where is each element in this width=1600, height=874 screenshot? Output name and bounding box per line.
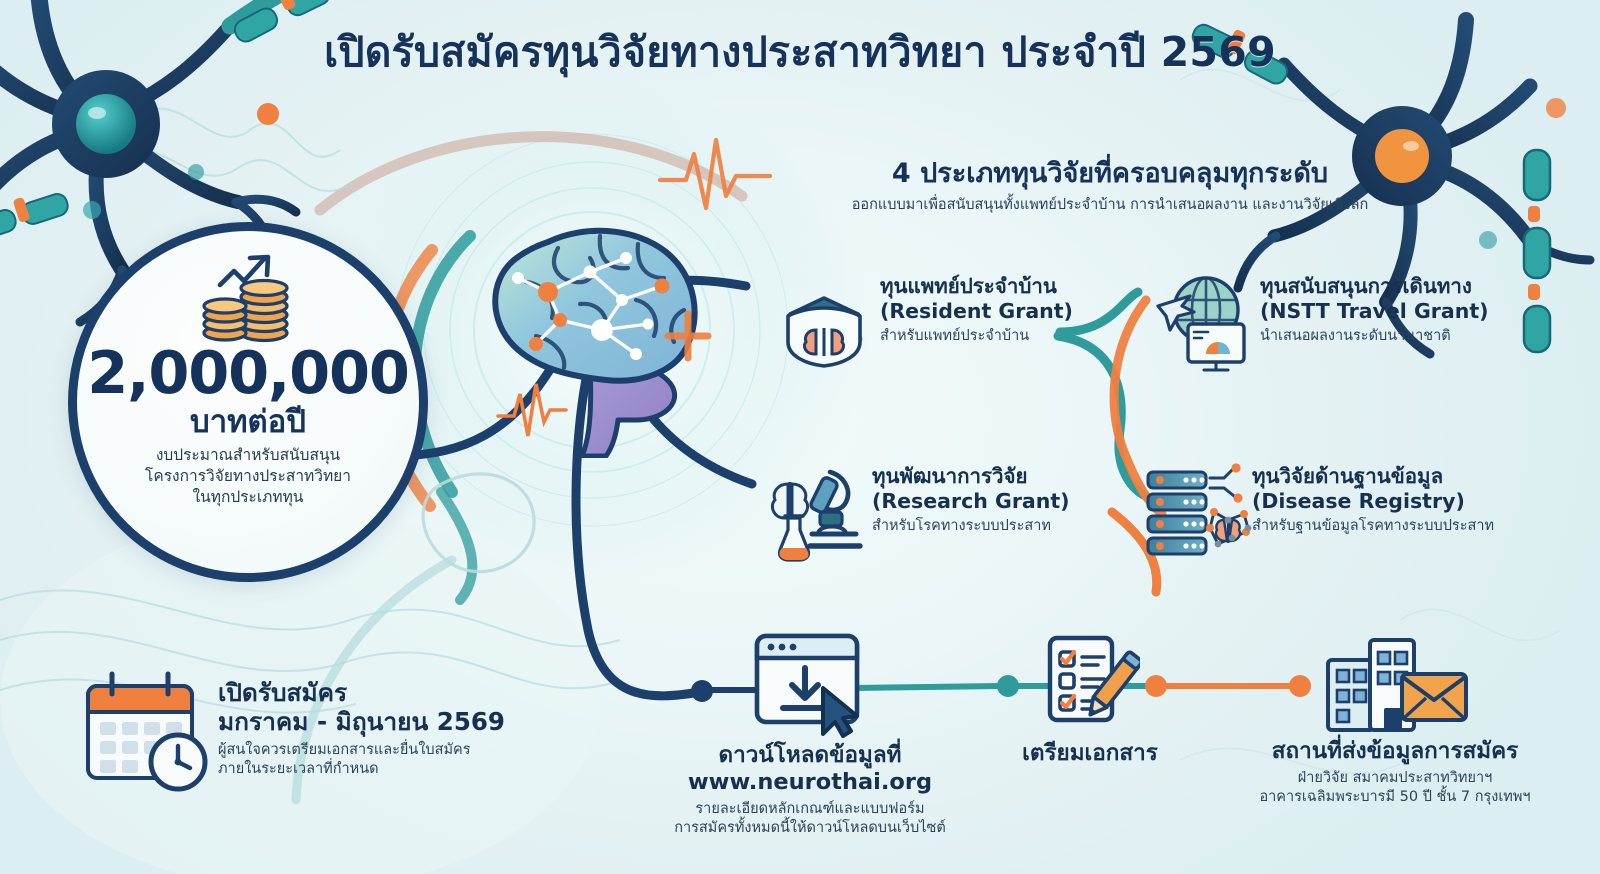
calendar-title-line-2: มกราคม - มิถุนายน 2569: [218, 707, 505, 737]
grant-text-research: ทุนพัฒนาการวิจัย (Research Grant) สำหรับ…: [872, 452, 1070, 535]
calendar-text: เปิดรับสมัคร มกราคม - มิถุนายน 2569 ผู้ส…: [218, 668, 505, 779]
budget-desc-line-1: งบประมาณสำหรับสนับสนุน: [145, 445, 351, 466]
dot-accent: [257, 103, 279, 125]
grants-heading: 4 ประเภททุนวิจัยที่ครอบคลุมทุกระดับ: [760, 158, 1460, 190]
download-sub-line-2: การสมัครทั้งหมดนี้ให้ดาวน์โหลดบนเว็บไซต์: [562, 819, 1058, 838]
download-url[interactable]: www.neurothai.org: [562, 769, 1058, 796]
grant-title-en: (Resident Grant): [880, 299, 1073, 324]
globe-airplane-presentation-icon: [1148, 262, 1260, 374]
calendar-title-line-1: เปิดรับสมัคร: [218, 678, 505, 707]
place-sub-line-1: ฝ่ายวิจัย สมาคมประสาทวิทยาฯ: [1200, 769, 1590, 788]
calendar-clock-icon: [78, 668, 218, 796]
grant-title-en: (Research Grant): [872, 489, 1070, 514]
grant-card-research[interactable]: ทุนพัฒนาการวิจัย (Research Grant) สำหรับ…: [760, 452, 1070, 564]
timeline-calendar-block: เปิดรับสมัคร มกราคม - มิถุนายน 2569 ผู้ส…: [78, 668, 505, 796]
grant-title-en: (Disease Registry): [1252, 489, 1494, 514]
grants-subheading: ออกแบบมาเพื่อสนับสนุนทั้งแพทย์ประจำบ้าน …: [760, 196, 1460, 215]
budget-desc-line-2: โครงการวิจัยทางประสาทวิทยา: [145, 466, 351, 487]
budget-circle: 2,000,000 บาทต่อปี งบประมาณสำหรับสนับสนุ…: [68, 222, 428, 582]
timeline-documents-block: เตรียมเอกสาร: [960, 630, 1220, 767]
timeline-place-block: สถานที่ส่งข้อมูลการสมัคร ฝ่ายวิจัย สมาคม…: [1200, 630, 1590, 807]
grant-title-th: ทุนสนับสนุนการเดินทาง: [1260, 274, 1489, 299]
calendar-sub-line-2: ภายในระยะเวลาที่กำหนด: [218, 760, 505, 779]
coins-growth-icon: [192, 251, 304, 343]
database-server-network-brain-icon: [1140, 452, 1252, 564]
budget-desc-line-3: ในทุกประเภททุน: [145, 487, 351, 508]
grant-title-th: ทุนวิจัยด้านฐานข้อมูล: [1252, 464, 1494, 489]
browser-download-cursor-icon: [751, 630, 869, 738]
brain-network-icon: [440, 208, 740, 458]
grant-text-registry: ทุนวิจัยด้านฐานข้อมูล (Disease Registry)…: [1252, 452, 1494, 535]
grant-title-en: (NSTT Travel Grant): [1260, 299, 1489, 324]
grant-subtitle: สำหรับโรคทางระบบประสาท: [872, 517, 1070, 535]
download-sub-line-1: รายละเอียดหลักเกณฑ์และแบบฟอร์ม: [562, 800, 1058, 819]
grant-subtitle: สำหรับแพทย์ประจำบ้าน: [880, 327, 1073, 345]
microscope-brain-flask-icon: [760, 452, 872, 564]
grant-title-th: ทุนแพทย์ประจำบ้าน: [880, 274, 1073, 299]
grant-subtitle: นำเสนอผลงานระดับนานาชาติ: [1260, 327, 1489, 345]
download-sub: รายละเอียดหลักเกณฑ์และแบบฟอร์ม การสมัครท…: [562, 800, 1058, 838]
place-title: สถานที่ส่งข้อมูลการสมัคร: [1200, 738, 1590, 765]
grant-card-registry[interactable]: ทุนวิจัยด้านฐานข้อมูล (Disease Registry)…: [1140, 452, 1494, 564]
grant-text-travel: ทุนสนับสนุนการเดินทาง (NSTT Travel Grant…: [1260, 262, 1489, 345]
grant-text-resident: ทุนแพทย์ประจำบ้าน (Resident Grant) สำหรั…: [880, 262, 1073, 345]
calendar-sub: ผู้สนใจควรเตรียมเอกสารและยื่นใบสมัคร ภาย…: [218, 741, 505, 779]
building-envelope-icon: [1320, 630, 1470, 734]
grant-card-resident[interactable]: ทุนแพทย์ประจำบ้าน (Resident Grant) สำหรั…: [768, 262, 1073, 374]
axon-myelin-chain: [1524, 150, 1550, 352]
budget-description: งบประมาณสำหรับสนับสนุน โครงการวิจัยทางปร…: [145, 445, 351, 508]
documents-title: เตรียมเอกสาร: [960, 740, 1220, 767]
grant-title-th: ทุนพัฒนาการวิจัย: [872, 464, 1070, 489]
place-sub: ฝ่ายวิจัย สมาคมประสาทวิทยาฯ อาคารเฉลิมพร…: [1200, 769, 1590, 807]
checklist-pencil-icon: [1040, 630, 1140, 734]
ekg-pulse-icon: [660, 140, 770, 208]
grant-card-travel[interactable]: ทุนสนับสนุนการเดินทาง (NSTT Travel Grant…: [1148, 262, 1489, 374]
budget-unit: บาทต่อปี: [190, 405, 306, 439]
place-sub-line-2: อาคารเฉลิมพระบารมี 50 ปี ชั้น 7 กรุงเทพฯ: [1200, 788, 1590, 807]
calendar-sub-line-1: ผู้สนใจควรเตรียมเอกสารและยื่นใบสมัคร: [218, 741, 505, 760]
page-title: เปิดรับสมัครทุนวิจัยทางประสาทวิทยา ประจำ…: [0, 28, 1600, 76]
infographic-canvas: เปิดรับสมัครทุนวิจัยทางประสาทวิทยา ประจำ…: [0, 0, 1600, 874]
grants-heading-block: 4 ประเภททุนวิจัยที่ครอบคลุมทุกระดับ ออกแ…: [760, 158, 1460, 215]
grant-subtitle: สำหรับฐานข้อมูลโรคทางระบบประสาท: [1252, 517, 1494, 535]
graduation-cap-shield-brain-icon: [768, 262, 880, 374]
budget-amount: 2,000,000: [87, 343, 408, 402]
